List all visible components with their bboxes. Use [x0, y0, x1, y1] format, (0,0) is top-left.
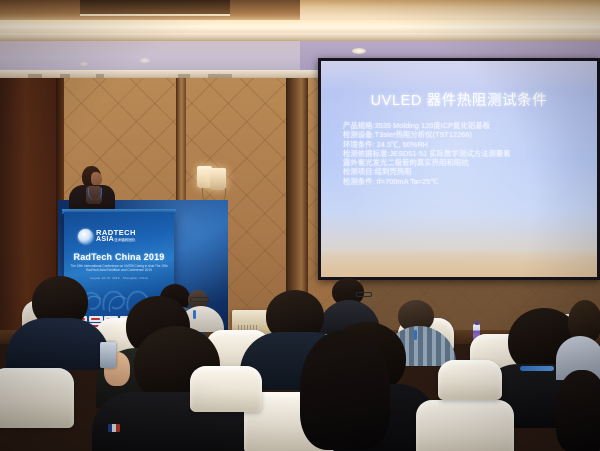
glasses-icon: [190, 297, 209, 302]
chair: [0, 368, 74, 428]
speaker-face: [91, 172, 102, 186]
sponsor-logo: [89, 316, 103, 322]
radtech-logo-icon: [78, 229, 93, 244]
downlight-icon: [352, 48, 366, 54]
logo-line-1: RADTECH: [96, 229, 136, 237]
screen-bottom-band: [321, 251, 597, 277]
long-hair: [300, 330, 390, 450]
conference-photo: UVLED 器件热阻测试条件 产品规格:3535 Molding 120度ICP…: [0, 0, 600, 451]
lamp-shade: [210, 168, 226, 190]
event-title: RadTech China 2019: [64, 252, 174, 262]
phone[interactable]: [100, 342, 116, 368]
flag-patch: [108, 424, 120, 432]
lanyard: [193, 310, 196, 319]
cove-lighting: [0, 20, 600, 34]
ceiling-panel-inner: [80, 0, 230, 16]
radtech-logo-text: RADTECH ASIA亚洲辐射固化: [96, 229, 136, 244]
slide-line: 检测项目:结到壳热阻: [343, 167, 581, 176]
event-subtitle: The 19th International Conference on UV/…: [70, 264, 168, 273]
downlight-icon: [80, 62, 88, 66]
slide-line: 检测设备:T3ster热阻分析仪(TST12266): [343, 130, 581, 139]
slide-title: UVLED 器件热阻测试条件: [321, 89, 597, 110]
downlight-icon: [140, 58, 150, 63]
slide-line: 检测条件: If=700mA Ta=25℃: [343, 177, 581, 186]
slide-body: 产品规格:3535 Molding 120度ICP氮化铝基板 检测设备:T3st…: [343, 121, 581, 186]
logo-line-2: ASIA亚洲辐射固化: [96, 236, 136, 243]
shoulders: [6, 318, 110, 370]
chair: [190, 366, 262, 412]
slide-line: 产品规格:3535 Molding 120度ICP氮化铝基板: [343, 121, 581, 130]
slide-line: 环境条件: 24.5℃, 50%RH: [343, 140, 581, 149]
screen-surface: UVLED 器件热阻测试条件 产品规格:3535 Molding 120度ICP…: [321, 61, 597, 277]
chair: [416, 400, 514, 451]
long-hair: [556, 370, 600, 451]
slide-line: 检测依据标准:JESD51-51 实际数学测试方法测量紫: [343, 149, 581, 158]
glasses-icon: [356, 292, 372, 297]
slide-line: 露外紫光发光二极管的真实热阻和阻抗: [343, 158, 581, 167]
event-date: August 12-15, 2019 · Shanghai, China: [70, 276, 168, 280]
projection-screen: UVLED 器件热阻测试条件 产品规格:3535 Molding 120度ICP…: [318, 58, 600, 280]
chair: [438, 360, 502, 400]
radtech-logo: RADTECH ASIA亚洲辐射固化: [78, 226, 164, 246]
lanyard: [414, 330, 417, 340]
lanyard: [520, 366, 554, 371]
